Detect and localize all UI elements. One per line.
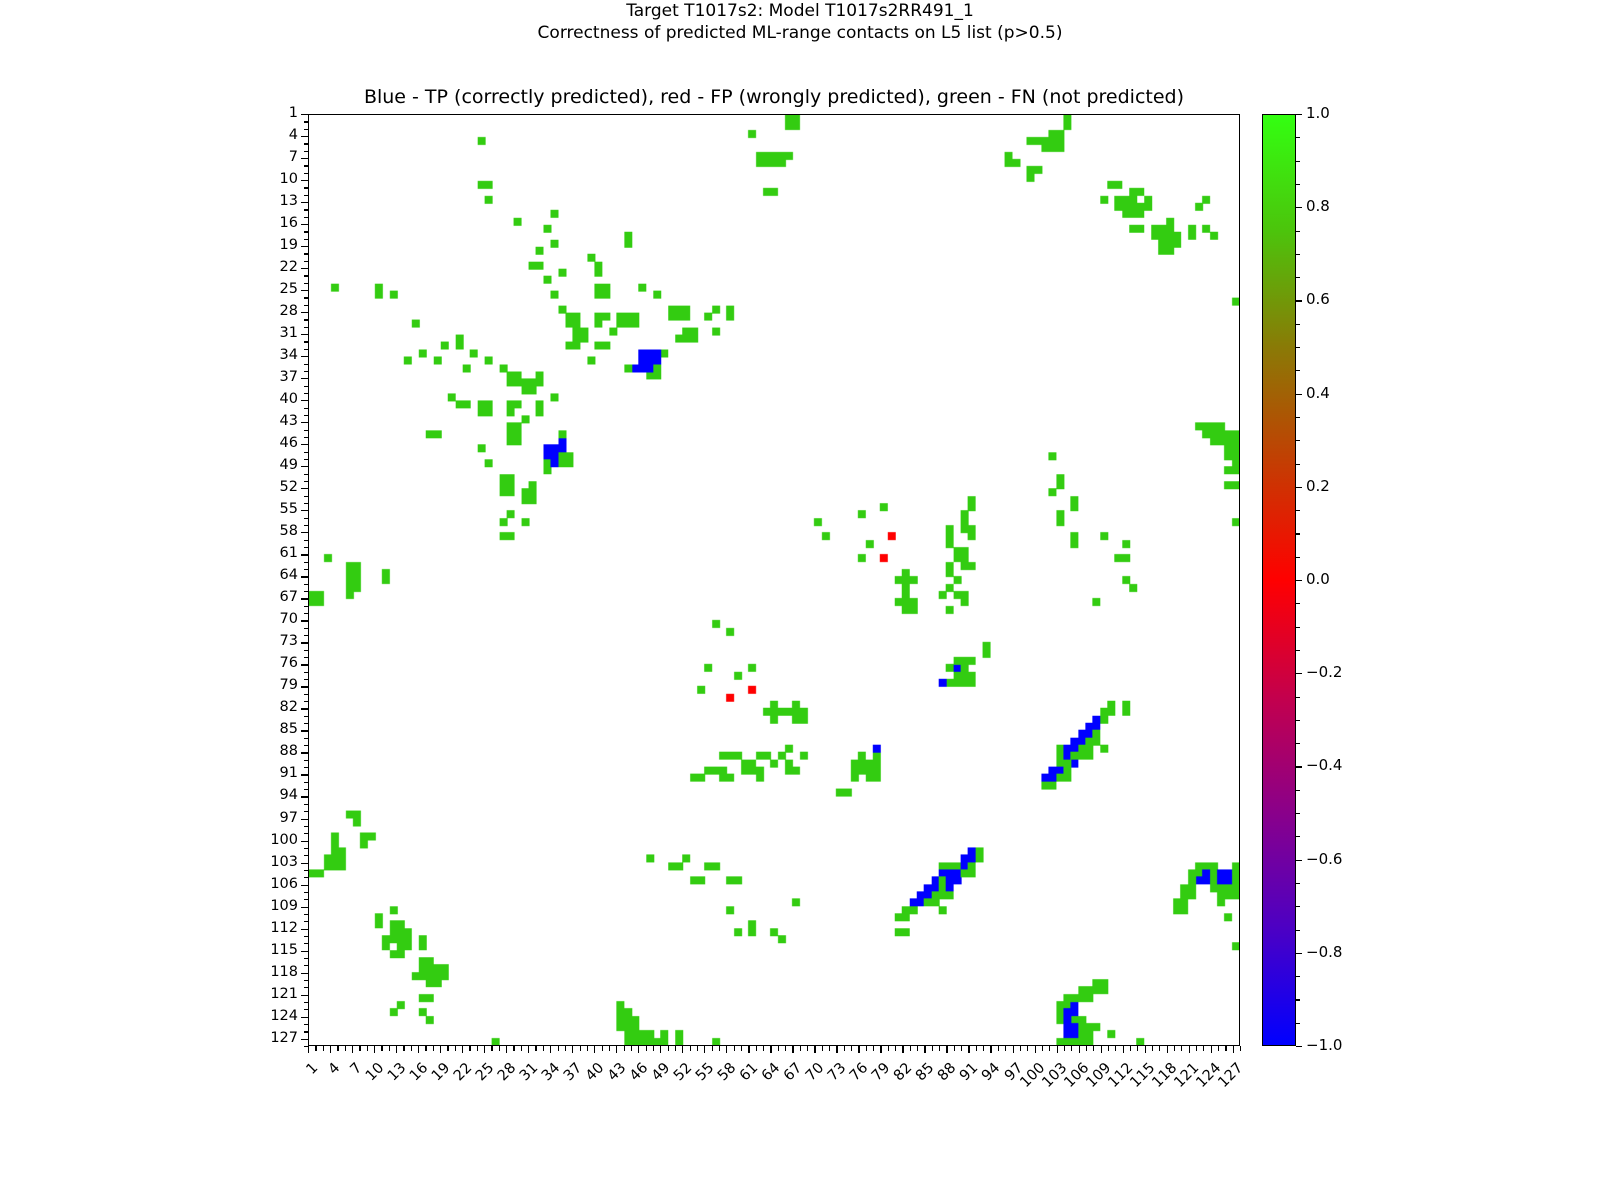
x-minor-tick (1196, 1046, 1197, 1051)
x-minor-tick (668, 1046, 669, 1051)
y-minor-tick (304, 943, 309, 944)
colorbar-minor-tick (1296, 394, 1300, 395)
x-major-tick (1079, 1046, 1080, 1053)
y-tick-label: 37 (240, 369, 298, 385)
y-minor-tick (304, 760, 309, 761)
x-minor-tick (1005, 1046, 1006, 1051)
colorbar-minor-tick (1296, 557, 1300, 558)
x-minor-tick (403, 1046, 404, 1051)
x-minor-tick (535, 1046, 536, 1051)
y-major-tick (301, 598, 308, 599)
x-minor-tick (910, 1046, 911, 1051)
colorbar-minor-tick (1296, 766, 1300, 767)
colorbar-minor-tick (1296, 231, 1300, 232)
x-minor-tick (998, 1046, 999, 1051)
y-minor-tick (304, 855, 309, 856)
y-minor-tick (304, 679, 309, 680)
x-minor-tick (631, 1046, 632, 1051)
y-minor-tick (304, 965, 309, 966)
x-minor-tick (954, 1046, 955, 1051)
colorbar-minor-tick (1296, 860, 1300, 861)
x-minor-tick (367, 1046, 368, 1051)
y-minor-tick (304, 980, 309, 981)
x-major-tick (1145, 1046, 1146, 1053)
x-major-tick (704, 1046, 705, 1053)
y-major-tick (301, 929, 308, 930)
x-minor-tick (675, 1046, 676, 1051)
y-minor-tick (304, 1024, 309, 1025)
x-minor-tick (829, 1046, 830, 1051)
x-major-tick (814, 1046, 815, 1053)
figure-canvas: Target T1017s2: Model T1017s2RR491_1 Cor… (0, 0, 1600, 1200)
y-minor-tick (304, 283, 309, 284)
x-minor-tick (337, 1046, 338, 1051)
x-minor-tick (469, 1046, 470, 1051)
y-tick-label: 1 (240, 105, 298, 121)
y-major-tick (301, 664, 308, 665)
x-minor-tick (1203, 1046, 1204, 1051)
suptitle-line-2: Correctness of predicted ML-range contac… (0, 22, 1600, 44)
x-minor-tick (1115, 1046, 1116, 1051)
x-minor-tick (513, 1046, 514, 1051)
y-minor-tick (304, 716, 309, 717)
x-major-tick (462, 1046, 463, 1053)
colorbar-minor-tick (1296, 254, 1300, 255)
y-minor-tick (304, 562, 309, 563)
x-minor-tick (785, 1046, 786, 1051)
x-minor-tick (1071, 1046, 1072, 1051)
y-major-tick (301, 796, 308, 797)
x-minor-tick (359, 1046, 360, 1051)
x-major-tick (1233, 1046, 1234, 1053)
x-major-tick (352, 1046, 353, 1053)
y-major-tick (301, 730, 308, 731)
y-tick-label: 55 (240, 501, 298, 517)
colorbar-minor-tick (1296, 184, 1300, 185)
colorbar-tick-label: 1.0 (1306, 104, 1330, 122)
y-minor-tick (304, 327, 309, 328)
x-major-tick (484, 1046, 485, 1053)
x-minor-tick (778, 1046, 779, 1051)
colorbar-tick-label: 0.8 (1306, 197, 1330, 215)
colorbar-gradient (1262, 114, 1296, 1046)
x-major-tick (924, 1046, 925, 1053)
x-major-tick (1035, 1046, 1036, 1053)
x-minor-tick (888, 1046, 889, 1051)
x-minor-tick (499, 1046, 500, 1051)
y-tick-label: 109 (240, 898, 298, 914)
colorbar-minor-tick (1296, 930, 1300, 931)
y-tick-label: 31 (240, 325, 298, 341)
colorbar-tick-label: 0.4 (1306, 384, 1330, 402)
y-minor-tick (304, 767, 309, 768)
y-minor-tick (304, 275, 309, 276)
contact-map-plot[interactable] (308, 114, 1240, 1046)
x-minor-tick (381, 1046, 382, 1051)
colorbar-minor-tick (1296, 883, 1300, 884)
y-minor-tick (304, 1031, 309, 1032)
contact-map-cells[interactable] (309, 115, 1239, 1045)
x-minor-tick (719, 1046, 720, 1051)
y-minor-tick (304, 305, 309, 306)
x-major-tick (308, 1046, 309, 1053)
y-major-tick (301, 885, 308, 886)
y-minor-tick (304, 877, 309, 878)
colorbar-minor-tick (1296, 533, 1300, 534)
colorbar-minor-tick (1296, 1023, 1300, 1024)
y-minor-tick (304, 745, 309, 746)
x-major-tick (550, 1046, 551, 1053)
y-minor-tick (304, 848, 309, 849)
y-minor-tick (304, 151, 309, 152)
x-minor-tick (1152, 1046, 1153, 1051)
y-major-tick (301, 774, 308, 775)
x-minor-tick (345, 1046, 346, 1051)
x-major-tick (1167, 1046, 1168, 1053)
y-major-tick (301, 686, 308, 687)
y-minor-tick (304, 694, 309, 695)
y-minor-tick (304, 789, 309, 790)
y-minor-tick (304, 261, 309, 262)
y-tick-label: 7 (240, 149, 298, 165)
x-minor-tick (609, 1046, 610, 1051)
y-minor-tick (304, 1009, 309, 1010)
y-tick-label: 28 (240, 303, 298, 319)
y-tick-label: 70 (240, 611, 298, 627)
colorbar-minor-tick (1296, 650, 1300, 651)
y-minor-tick (304, 437, 309, 438)
y-minor-tick (304, 364, 309, 365)
x-major-tick (682, 1046, 683, 1053)
y-minor-tick (304, 319, 309, 320)
x-minor-tick (939, 1046, 940, 1051)
y-major-tick (301, 400, 308, 401)
x-minor-tick (1137, 1046, 1138, 1051)
x-minor-tick (1042, 1046, 1043, 1051)
y-major-tick (301, 752, 308, 753)
y-major-tick (301, 642, 308, 643)
x-minor-tick (1064, 1046, 1065, 1051)
y-tick-label: 46 (240, 435, 298, 451)
x-minor-tick (932, 1046, 933, 1051)
y-major-tick (301, 246, 308, 247)
x-minor-tick (756, 1046, 757, 1051)
x-minor-tick (1240, 1046, 1241, 1051)
y-minor-tick (304, 459, 309, 460)
y-minor-tick (304, 613, 309, 614)
y-tick-label: 67 (240, 589, 298, 605)
x-major-tick (1013, 1046, 1014, 1053)
x-minor-tick (1108, 1046, 1109, 1051)
x-minor-tick (587, 1046, 588, 1051)
x-minor-tick (455, 1046, 456, 1051)
y-minor-tick (304, 606, 309, 607)
x-minor-tick (1218, 1046, 1219, 1051)
x-minor-tick (895, 1046, 896, 1051)
y-major-tick (301, 708, 308, 709)
y-major-tick (301, 1039, 308, 1040)
y-minor-tick (304, 217, 309, 218)
y-tick-label: 85 (240, 721, 298, 737)
y-minor-tick (304, 143, 309, 144)
y-tick-label: 121 (240, 986, 298, 1002)
x-minor-tick (1093, 1046, 1094, 1051)
y-minor-tick (304, 547, 309, 548)
y-minor-tick (304, 936, 309, 937)
x-major-tick (1123, 1046, 1124, 1053)
y-tick-label: 82 (240, 699, 298, 715)
y-tick-label: 103 (240, 854, 298, 870)
x-minor-tick (1020, 1046, 1021, 1051)
x-major-tick (880, 1046, 881, 1053)
y-major-tick (301, 202, 308, 203)
y-minor-tick (304, 591, 309, 592)
y-tick-label: 49 (240, 457, 298, 473)
colorbar-minor-tick (1296, 999, 1300, 1000)
y-tick-label: 52 (240, 479, 298, 495)
y-minor-tick (304, 474, 309, 475)
colorbar-tick-label: −0.8 (1306, 943, 1342, 961)
x-minor-tick (1130, 1046, 1131, 1051)
colorbar-tick-label: 0.6 (1306, 290, 1330, 308)
x-minor-tick (844, 1046, 845, 1051)
x-minor-tick (565, 1046, 566, 1051)
x-major-tick (528, 1046, 529, 1053)
x-minor-tick (646, 1046, 647, 1051)
x-minor-tick (1159, 1046, 1160, 1051)
x-major-tick (770, 1046, 771, 1053)
y-major-tick (301, 268, 308, 269)
colorbar-minor-tick (1296, 347, 1300, 348)
x-minor-tick (491, 1046, 492, 1051)
x-minor-tick (580, 1046, 581, 1051)
y-tick-label: 22 (240, 259, 298, 275)
x-major-tick (902, 1046, 903, 1053)
y-minor-tick (304, 1002, 309, 1003)
y-major-tick (301, 334, 308, 335)
y-tick-label: 100 (240, 832, 298, 848)
y-minor-tick (304, 121, 309, 122)
y-minor-tick (304, 430, 309, 431)
x-minor-tick (411, 1046, 412, 1051)
y-tick-label: 19 (240, 237, 298, 253)
x-major-tick (792, 1046, 793, 1053)
axes-title: Blue - TP (correctly predicted), red - F… (308, 86, 1240, 108)
x-minor-tick (800, 1046, 801, 1051)
y-minor-tick (304, 657, 309, 658)
y-major-tick (301, 290, 308, 291)
x-minor-tick (851, 1046, 852, 1051)
y-minor-tick (304, 195, 309, 196)
y-major-tick (301, 995, 308, 996)
x-minor-tick (961, 1046, 962, 1051)
colorbar-minor-tick (1296, 440, 1300, 441)
y-tick-label: 16 (240, 215, 298, 231)
y-minor-tick (304, 584, 309, 585)
y-tick-label: 76 (240, 655, 298, 671)
y-major-tick (301, 951, 308, 952)
y-major-tick (301, 158, 308, 159)
colorbar-minor-tick (1296, 277, 1300, 278)
y-minor-tick (304, 129, 309, 130)
y-tick-label: 115 (240, 942, 298, 958)
y-major-tick (301, 841, 308, 842)
figure-suptitle: Target T1017s2: Model T1017s2RR491_1 Cor… (0, 0, 1600, 44)
colorbar-minor-tick (1296, 487, 1300, 488)
colorbar-minor-tick (1296, 137, 1300, 138)
x-minor-tick (433, 1046, 434, 1051)
x-major-tick (506, 1046, 507, 1053)
y-tick-label: 64 (240, 567, 298, 583)
x-minor-tick (917, 1046, 918, 1051)
colorbar-tick-label: −0.2 (1306, 663, 1342, 681)
x-major-tick (836, 1046, 837, 1053)
colorbar-minor-tick (1296, 790, 1300, 791)
colorbar-tick-label: −1.0 (1306, 1036, 1342, 1054)
y-minor-tick (304, 386, 309, 387)
y-tick-label: 10 (240, 171, 298, 187)
colorbar-minor-tick (1296, 743, 1300, 744)
colorbar-minor-tick (1296, 300, 1300, 301)
x-minor-tick (1049, 1046, 1050, 1051)
y-minor-tick (304, 173, 309, 174)
colorbar-tick-label: −0.4 (1306, 756, 1342, 774)
y-tick-label: 34 (240, 347, 298, 363)
x-minor-tick (734, 1046, 735, 1051)
y-minor-tick (304, 231, 309, 232)
x-minor-tick (315, 1046, 316, 1051)
y-minor-tick (304, 958, 309, 959)
colorbar-minor-tick (1296, 370, 1300, 371)
y-minor-tick (304, 415, 309, 416)
y-major-tick (301, 532, 308, 533)
y-minor-tick (304, 650, 309, 651)
y-minor-tick (304, 987, 309, 988)
y-tick-label: 73 (240, 633, 298, 649)
x-minor-tick (1181, 1046, 1182, 1051)
y-tick-label: 91 (240, 765, 298, 781)
y-minor-tick (304, 297, 309, 298)
x-major-tick (1211, 1046, 1212, 1053)
y-major-tick (301, 819, 308, 820)
colorbar-minor-tick (1296, 1046, 1300, 1047)
x-major-tick (374, 1046, 375, 1053)
colorbar-minor-tick (1296, 673, 1300, 674)
y-tick-label: 40 (240, 391, 298, 407)
y-minor-tick (304, 723, 309, 724)
y-major-tick (301, 488, 308, 489)
x-minor-tick (477, 1046, 478, 1051)
colorbar-tick-label: 0.2 (1306, 477, 1330, 495)
y-tick-label: 25 (240, 281, 298, 297)
y-minor-tick (304, 569, 309, 570)
y-minor-tick (304, 738, 309, 739)
y-minor-tick (304, 892, 309, 893)
y-minor-tick (304, 393, 309, 394)
y-minor-tick (304, 672, 309, 673)
x-minor-tick (1174, 1046, 1175, 1051)
x-minor-tick (653, 1046, 654, 1051)
y-minor-tick (304, 239, 309, 240)
x-minor-tick (807, 1046, 808, 1051)
x-minor-tick (602, 1046, 603, 1051)
x-minor-tick (697, 1046, 698, 1051)
x-minor-tick (624, 1046, 625, 1051)
colorbar-minor-tick (1296, 464, 1300, 465)
y-minor-tick (304, 187, 309, 188)
y-minor-tick (304, 408, 309, 409)
y-major-tick (301, 180, 308, 181)
y-tick-label: 127 (240, 1030, 298, 1046)
y-major-tick (301, 510, 308, 511)
x-major-tick (858, 1046, 859, 1053)
y-minor-tick (304, 540, 309, 541)
x-minor-tick (1027, 1046, 1028, 1051)
x-minor-tick (323, 1046, 324, 1051)
y-major-tick (301, 422, 308, 423)
colorbar-minor-tick (1296, 161, 1300, 162)
y-major-tick (301, 554, 308, 555)
y-major-tick (301, 620, 308, 621)
x-minor-tick (543, 1046, 544, 1051)
suptitle-line-1: Target T1017s2: Model T1017s2RR491_1 (0, 0, 1600, 22)
colorbar-minor-tick (1296, 207, 1300, 208)
y-major-tick (301, 114, 308, 115)
x-major-tick (660, 1046, 661, 1053)
y-minor-tick (304, 833, 309, 834)
x-major-tick (638, 1046, 639, 1053)
colorbar-tick-label: −0.6 (1306, 850, 1342, 868)
y-minor-tick (304, 635, 309, 636)
y-major-tick (301, 312, 308, 313)
x-minor-tick (763, 1046, 764, 1051)
x-minor-tick (447, 1046, 448, 1051)
x-minor-tick (873, 1046, 874, 1051)
y-minor-tick (304, 628, 309, 629)
colorbar-minor-tick (1296, 953, 1300, 954)
x-major-tick (990, 1046, 991, 1053)
x-major-tick (418, 1046, 419, 1053)
colorbar-minor-tick (1296, 906, 1300, 907)
x-major-tick (1057, 1046, 1058, 1053)
colorbar[interactable] (1262, 114, 1296, 1046)
x-minor-tick (866, 1046, 867, 1051)
y-minor-tick (304, 496, 309, 497)
colorbar-minor-tick (1296, 720, 1300, 721)
y-tick-label: 43 (240, 413, 298, 429)
y-minor-tick (304, 518, 309, 519)
y-minor-tick (304, 811, 309, 812)
colorbar-minor-tick (1296, 114, 1300, 115)
y-tick-label: 88 (240, 743, 298, 759)
y-minor-tick (304, 804, 309, 805)
colorbar-minor-tick (1296, 603, 1300, 604)
x-major-tick (968, 1046, 969, 1053)
x-major-tick (748, 1046, 749, 1053)
x-minor-tick (822, 1046, 823, 1051)
y-tick-label: 97 (240, 810, 298, 826)
x-major-tick (572, 1046, 573, 1053)
x-major-tick (594, 1046, 595, 1053)
y-minor-tick (304, 209, 309, 210)
y-minor-tick (304, 701, 309, 702)
y-major-tick (301, 907, 308, 908)
colorbar-minor-tick (1296, 813, 1300, 814)
y-major-tick (301, 973, 308, 974)
y-minor-tick (304, 481, 309, 482)
colorbar-minor-tick (1296, 976, 1300, 977)
y-tick-label: 13 (240, 193, 298, 209)
